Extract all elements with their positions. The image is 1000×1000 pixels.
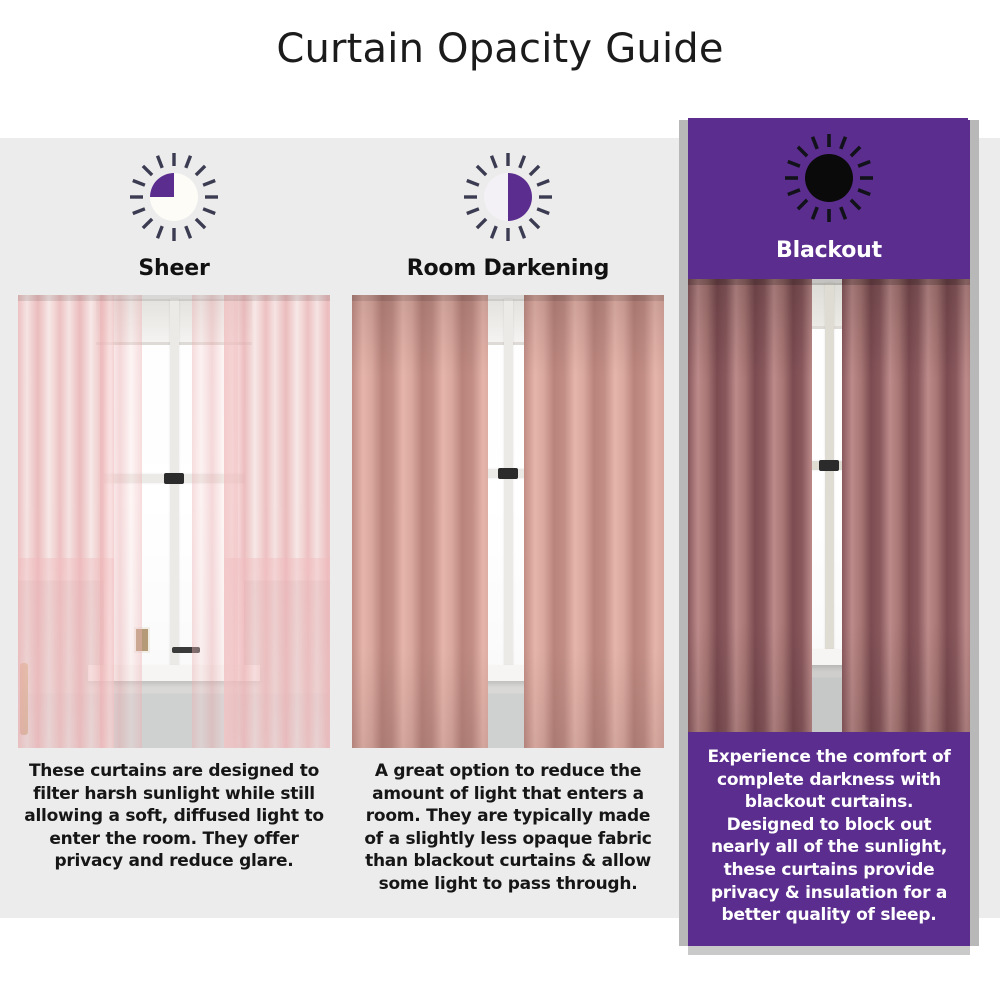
photo-sheer-curtains	[18, 295, 330, 748]
card-notch-left	[677, 108, 688, 120]
caption-sheer: These curtains are designed to filter ha…	[18, 748, 330, 873]
page-title: Curtain Opacity Guide	[0, 26, 1000, 72]
caption-blackout: Experience the comfort of complete darkn…	[688, 732, 970, 927]
column-blackout-card[interactable]: Blackout Experience the comfort of compl…	[688, 118, 970, 946]
column-heading-sheer: Sheer	[18, 256, 330, 295]
column-sheer[interactable]: Sheer	[18, 138, 330, 873]
photo-room-darkening-curtains	[352, 295, 664, 748]
column-room-darkening[interactable]: Room Darkening A great option to reduce …	[352, 138, 664, 896]
caption-room-darkening: A great option to reduce the amount of l…	[352, 748, 664, 896]
sun-full-icon	[688, 118, 970, 238]
infographic-root: Curtain Opacity Guide	[0, 0, 1000, 1000]
column-heading-room-darkening: Room Darkening	[352, 256, 664, 295]
photo-blackout-curtains	[688, 279, 970, 732]
sun-half-icon	[352, 138, 664, 256]
sun-quarter-icon	[18, 138, 330, 256]
card-notch-right	[968, 108, 979, 120]
column-heading-blackout: Blackout	[688, 238, 970, 279]
